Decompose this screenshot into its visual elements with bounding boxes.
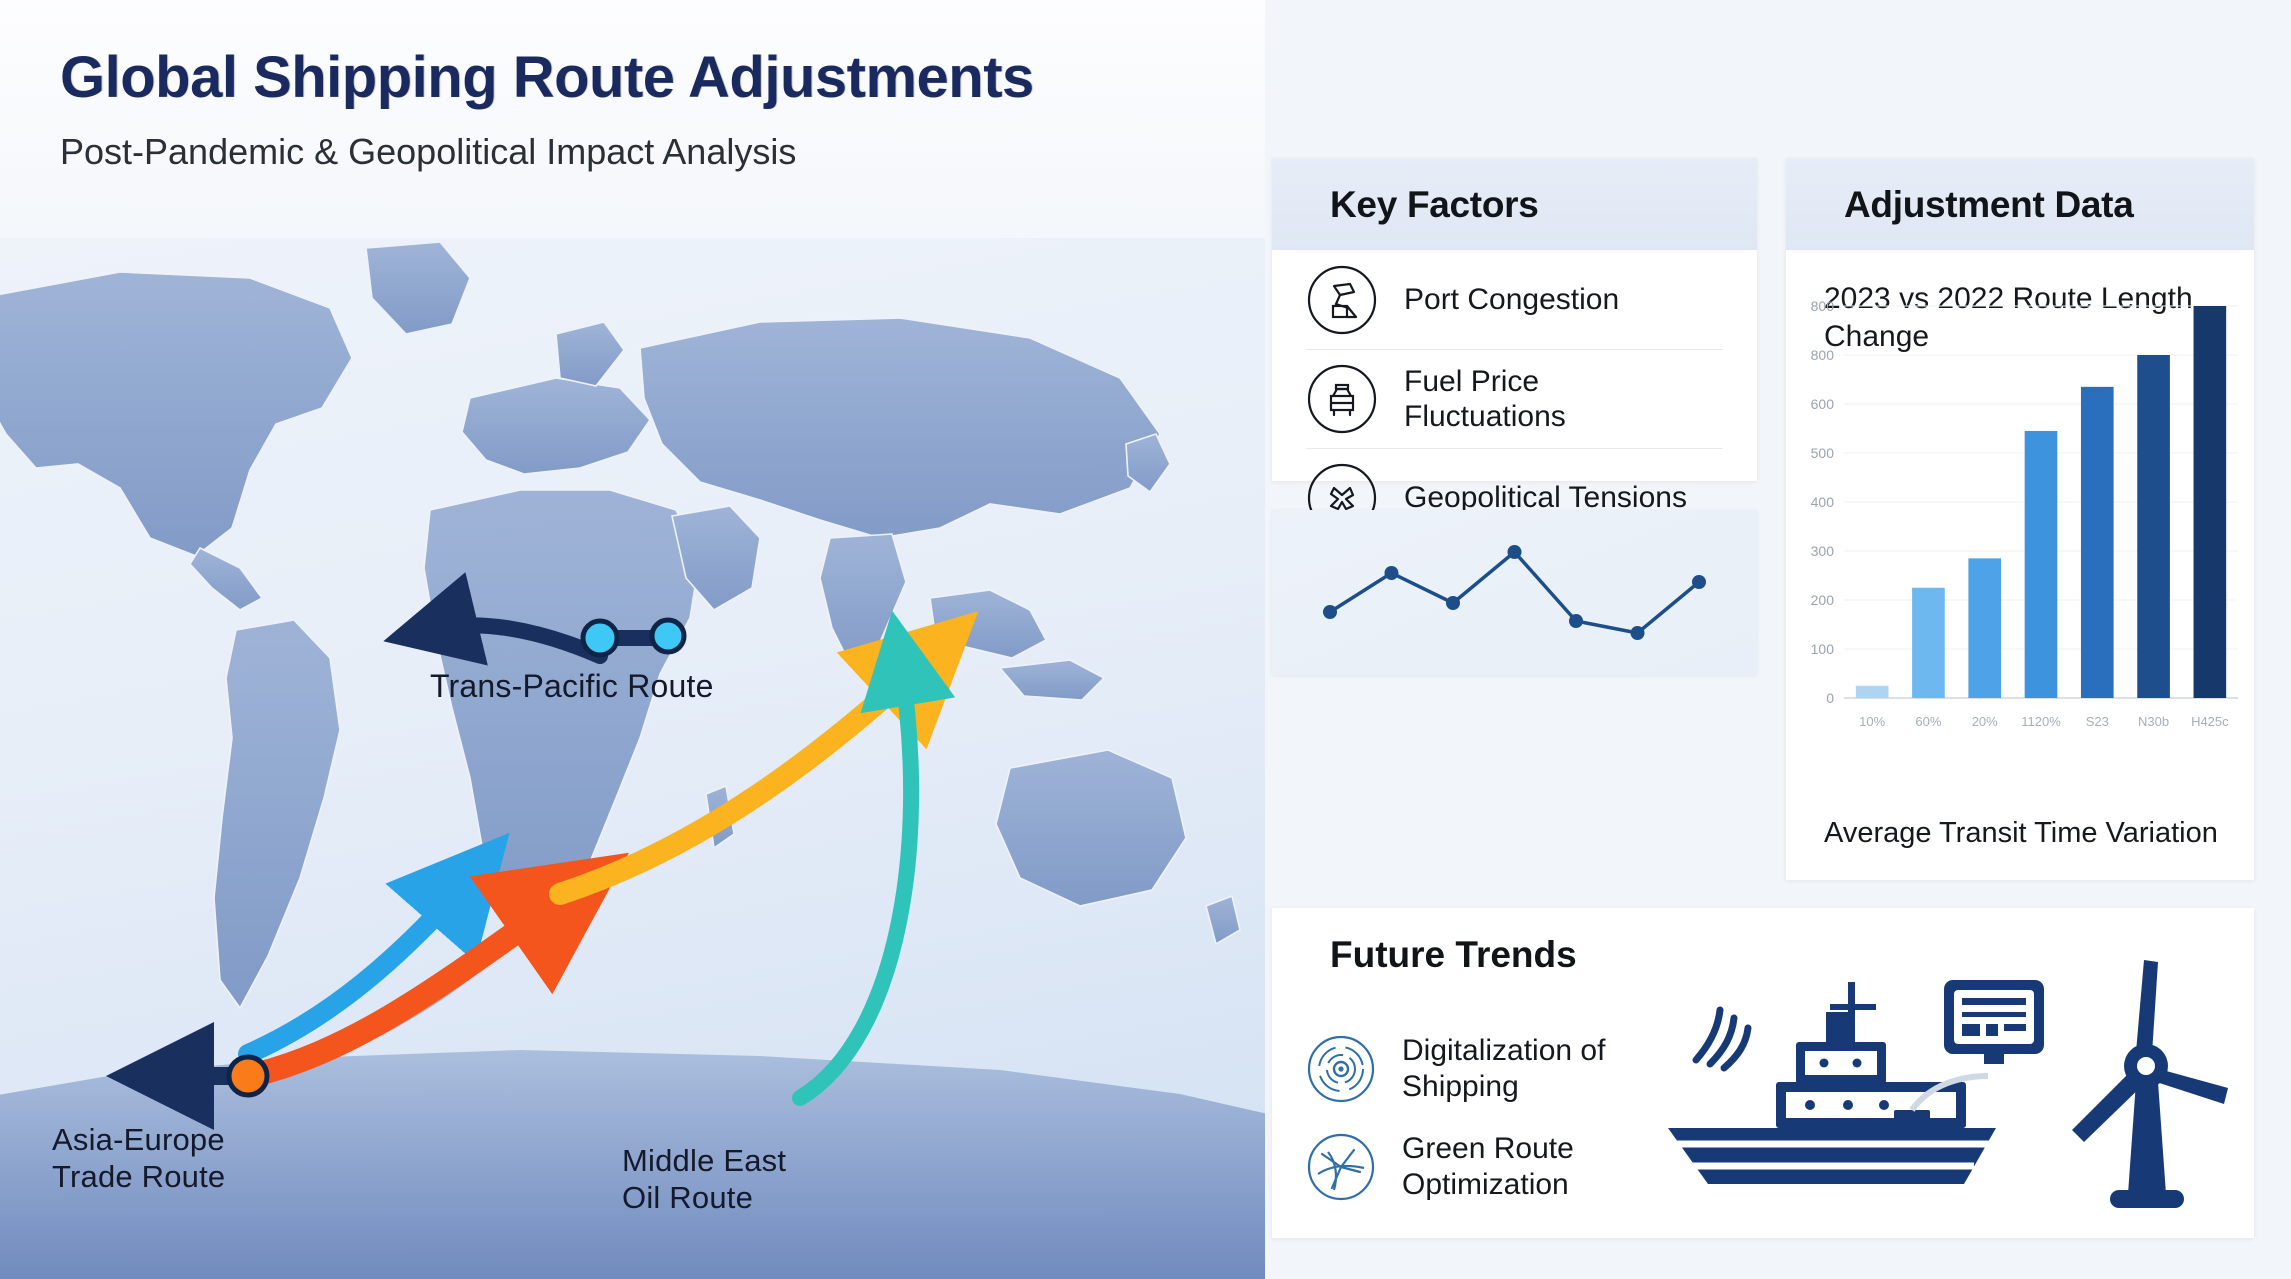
- world-map-panel[interactable]: Trans-Pacific Route Asia-Europe Trade Ro…: [0, 238, 1265, 1279]
- key-factor-label: Port Congestion: [1404, 282, 1619, 317]
- ship-monitor-windturbine-illustration: [1644, 932, 2244, 1232]
- y-tick-label: 100: [1811, 641, 1835, 657]
- map-label-asia-europe-line1: Asia-Europe: [52, 1122, 225, 1159]
- map-label-trans-pacific-text: Trans-Pacific Route: [430, 668, 714, 704]
- key-factors-header: Key Factors: [1272, 158, 1757, 250]
- chart-bar: [1968, 558, 2001, 698]
- map-label-asia-europe: Asia-Europe Trade Route: [52, 1122, 225, 1195]
- adjustment-data-header: Adjustment Data: [1786, 158, 2254, 250]
- key-factors-title: Key Factors: [1330, 184, 1757, 226]
- page-title: Global Shipping Route Adjustments: [60, 48, 1265, 109]
- y-tick-label: 200: [1811, 592, 1835, 608]
- chart-bar: [2194, 306, 2227, 698]
- chart-bar: [2025, 431, 2058, 698]
- y-tick-label: 300: [1811, 543, 1835, 559]
- x-tick-label: 1120%: [2021, 714, 2061, 729]
- page-subtitle: Post-Pandemic & Geopolitical Impact Anal…: [60, 131, 1265, 173]
- chart-bar: [2081, 387, 2114, 698]
- x-tick-label: 10%: [1859, 714, 1885, 729]
- sparkline-point: [1385, 566, 1399, 580]
- map-node-trans-pacific-west: [583, 621, 617, 655]
- x-tick-label: 60%: [1915, 714, 1941, 729]
- future-trends-panel: Future Trends Digitalization ofShipping: [1272, 908, 2254, 1238]
- infographic-canvas: Global Shipping Route Adjustments Post-P…: [0, 0, 2291, 1279]
- chart-x-axis-labels: 10%60%20%1120%S23N30bH425c: [1859, 714, 2229, 729]
- y-tick-label: 400: [1811, 494, 1835, 510]
- map-label-trans-pacific: Trans-Pacific Route: [430, 668, 714, 706]
- chart-bar: [1856, 686, 1889, 698]
- sparkline-point: [1508, 545, 1522, 559]
- key-factor-label: Fuel PriceFluctuations: [1404, 364, 1566, 435]
- bar-chart-container[interactable]: 0100200300400500600800800 10%60%20%1120%…: [1786, 288, 2254, 758]
- chart-caption-bottom: Average Transit Time Variation: [1824, 817, 2218, 850]
- sparkline-point: [1323, 605, 1337, 619]
- map-label-middle-east: Middle East Oil Route: [622, 1143, 786, 1216]
- bar-chart: 0100200300400500600800800 10%60%20%1120%…: [1786, 288, 2254, 758]
- adjustment-data-title: Adjustment Data: [1844, 184, 2254, 226]
- key-factors-panel: Key Factors Port Congestion: [1272, 158, 1757, 481]
- digitalization-icon: [1306, 1034, 1376, 1104]
- y-tick-label: 500: [1811, 445, 1835, 461]
- fuel-price-icon: [1306, 363, 1378, 435]
- trend-sparkline-chart: [1272, 510, 1757, 675]
- trend-sparkline-panel[interactable]: [1272, 510, 1757, 675]
- x-tick-label: S23: [2086, 714, 2109, 729]
- x-tick-label: 20%: [1972, 714, 1998, 729]
- key-factors-list: Port Congestion Fuel PriceFluctuations: [1272, 250, 1757, 547]
- y-tick-label: 600: [1811, 396, 1835, 412]
- x-tick-label: N30b: [2138, 714, 2169, 729]
- y-tick-label: 800: [1811, 347, 1835, 363]
- chart-bar: [1912, 588, 1945, 698]
- green-route-icon: [1306, 1132, 1376, 1202]
- map-label-asia-europe-line2: Trade Route: [52, 1159, 225, 1196]
- map-label-middle-east-line1: Middle East: [622, 1143, 786, 1180]
- future-trend-label: Green RouteOptimization: [1402, 1131, 1574, 1203]
- future-trend-label: Digitalization ofShipping: [1402, 1033, 1605, 1105]
- header: Global Shipping Route Adjustments Post-P…: [0, 0, 1265, 238]
- adjustment-data-panel: Adjustment Data 2023 vs 2022 Route Lengt…: [1786, 158, 2254, 880]
- sparkline-path: [1330, 552, 1699, 633]
- y-tick-label: 0: [1826, 690, 1834, 706]
- map-node-trans-pacific-east: [652, 620, 684, 652]
- map-label-middle-east-line2: Oil Route: [622, 1180, 786, 1217]
- key-factor-item-port-congestion[interactable]: Port Congestion: [1306, 250, 1723, 349]
- key-factor-item-fuel-price[interactable]: Fuel PriceFluctuations: [1306, 349, 1723, 448]
- map-node-asia-europe: [229, 1057, 267, 1095]
- sparkline-point: [1692, 575, 1706, 589]
- chart-y-axis-labels: 0100200300400500600800800: [1811, 298, 1835, 706]
- sparkline-point: [1569, 614, 1583, 628]
- sparkline-point: [1446, 596, 1460, 610]
- port-congestion-icon: [1306, 264, 1378, 336]
- x-tick-label: H425c: [2191, 714, 2229, 729]
- chart-bar: [2137, 355, 2170, 698]
- sparkline-point: [1631, 626, 1645, 640]
- y-tick-label: 800: [1811, 298, 1835, 314]
